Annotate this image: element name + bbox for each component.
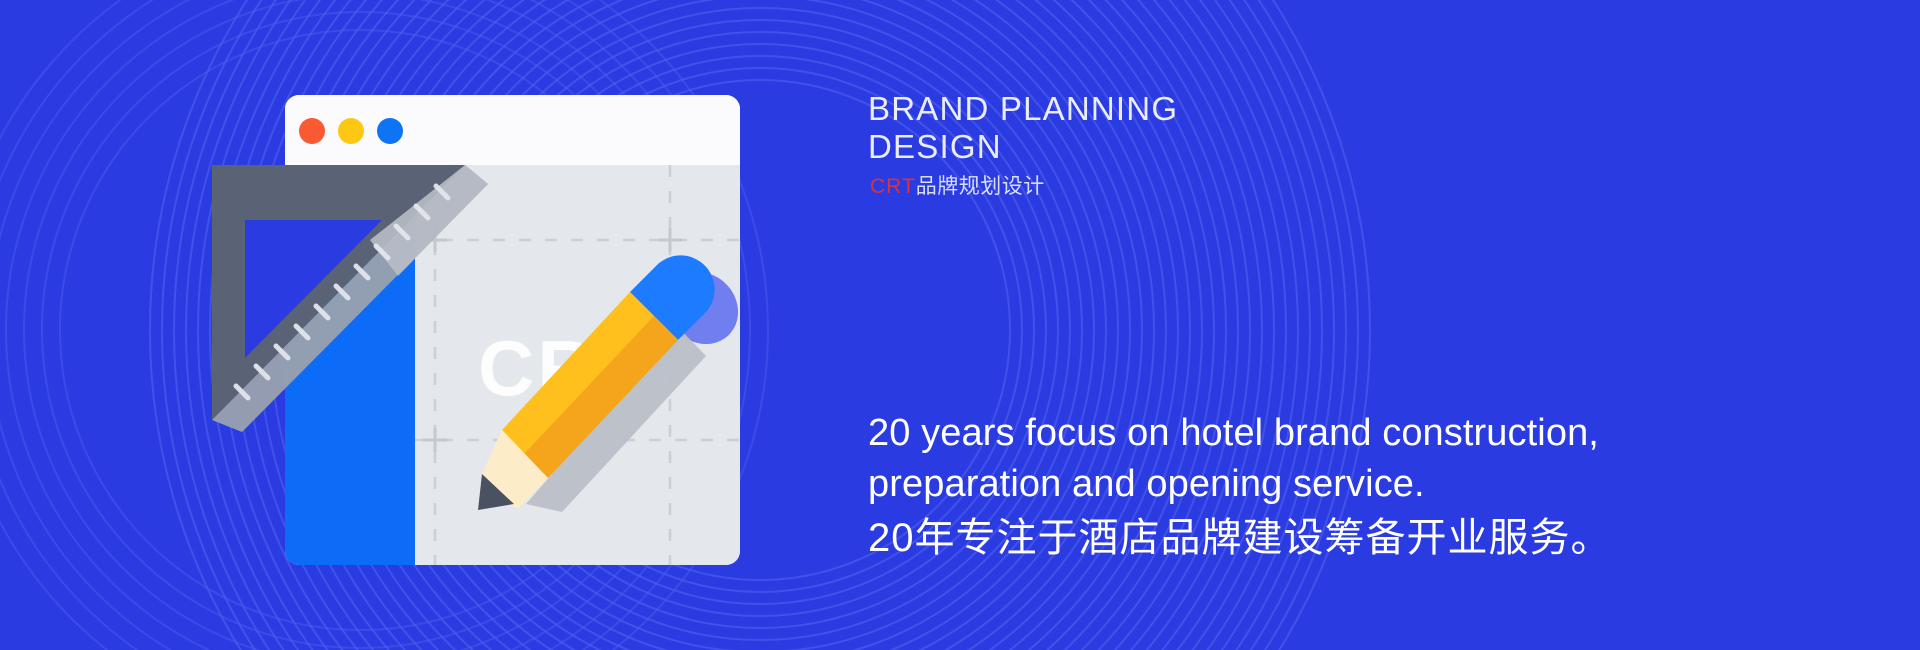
window-titlebar <box>285 95 740 165</box>
eyebrow-subtitle-cn-text: 品牌规划设计 <box>916 175 1045 198</box>
brand-design-illustration: CRT <box>230 80 750 580</box>
eyebrow-line-1: BRAND PLANNING <box>868 90 1508 128</box>
banner-copy-block: BRAND PLANNING DESIGN CRT品牌规划设计 20 years… <box>868 0 1868 650</box>
close-dot-icon <box>299 118 325 144</box>
eyebrow-subtitle-cn: CRT品牌规划设计 <box>870 174 1045 200</box>
brand-banner: CRT <box>0 0 1920 650</box>
tagline-en: 20 years focus on hotel brand constructi… <box>868 408 1698 510</box>
brand-mark-crt: CRT <box>870 175 916 198</box>
tagline-en-line-1: 20 years focus on hotel brand constructi… <box>868 408 1698 459</box>
maximize-dot-icon <box>377 118 403 144</box>
eyebrow-line-2: DESIGN <box>868 128 1508 166</box>
tagline-en-line-2: preparation and opening service. <box>868 459 1698 510</box>
minimize-dot-icon <box>338 118 364 144</box>
eyebrow-heading: BRAND PLANNING DESIGN <box>868 90 1508 166</box>
tagline-cn: 20年专注于酒店品牌建设筹备开业服务。 <box>868 512 1698 564</box>
